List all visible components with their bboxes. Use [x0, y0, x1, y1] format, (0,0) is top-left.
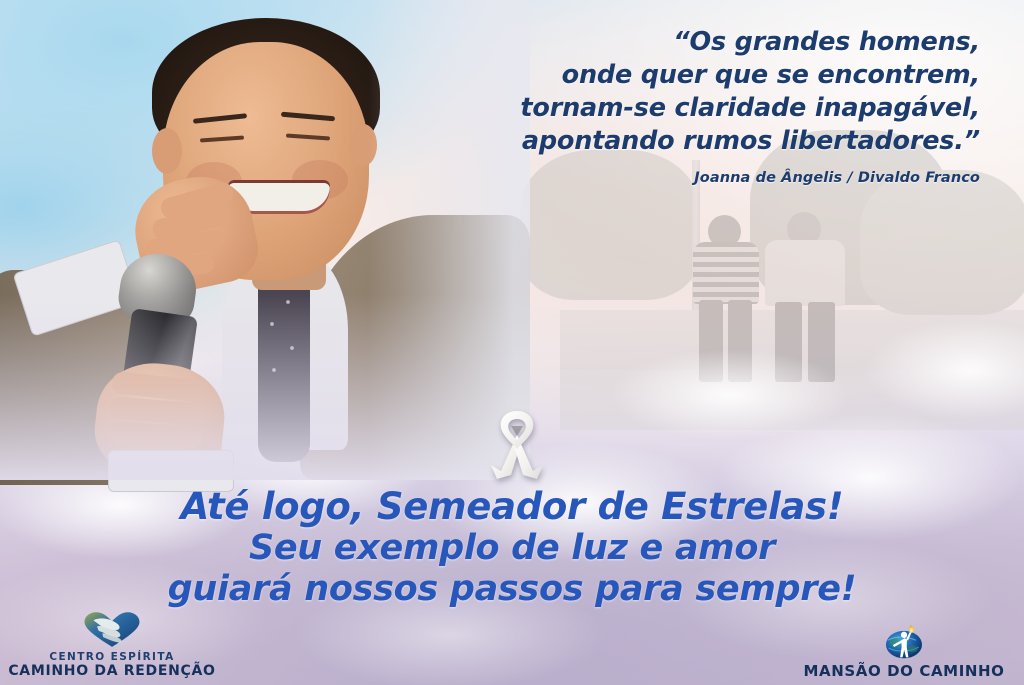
quote-author: Joanna de Ângelis / Divaldo Franco — [440, 170, 980, 186]
quote-line-4: apontando rumos libertadores.” — [440, 125, 980, 158]
white-ribbon-icon — [487, 409, 547, 481]
heart-hands-icon — [0, 612, 232, 648]
ear-left — [152, 128, 182, 174]
message-line-3: guiará nossos passos para sempre! — [0, 569, 1024, 610]
message-line-1: Até logo, Semeador de Estrelas! — [0, 486, 1024, 528]
message-line-2: Seu exemplo de luz e amor — [0, 528, 1024, 569]
globe-figure-torch-icon — [784, 624, 1024, 660]
logo-left-line-1: CENTRO ESPÍRITA — [0, 651, 232, 663]
quote-line-2: onde quer que se encontrem, — [440, 59, 980, 92]
logo-left-line-2: CAMINHO DA REDENÇÃO — [0, 663, 232, 679]
quote-line-3: tornam-se claridade inapagável, — [440, 92, 980, 125]
logo-right-line-2: MANSÃO DO CAMINHO — [784, 663, 1024, 679]
quote-line-1: “Os grandes homens, — [440, 26, 980, 59]
tribute-poster: “Os grandes homens, onde quer que se enc… — [0, 0, 1024, 685]
logo-centro-espirita-caminho-da-redencao[interactable]: CENTRO ESPÍRITA CAMINHO DA REDENÇÃO — [0, 612, 232, 679]
necktie — [258, 262, 310, 462]
tribute-message: Até logo, Semeador de Estrelas! Seu exem… — [0, 486, 1024, 610]
quote-block: “Os grandes homens, onde quer que se enc… — [440, 26, 980, 158]
ear-right — [350, 124, 377, 166]
logo-mansao-do-caminho[interactable]: MANSÃO DO CAMINHO — [784, 624, 1024, 679]
